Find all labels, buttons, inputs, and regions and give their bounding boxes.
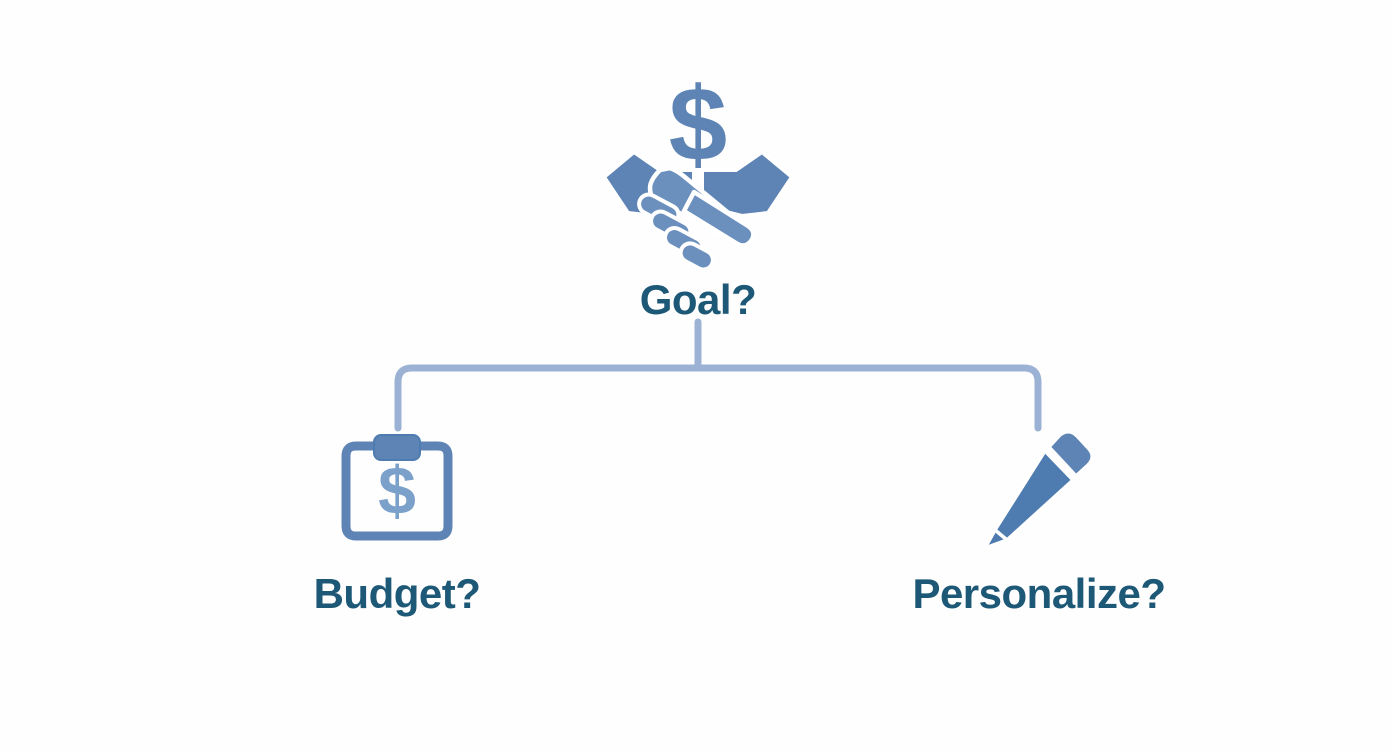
node-budget[interactable]: $ Budget? xyxy=(254,430,540,618)
svg-text:$: $ xyxy=(669,74,727,183)
clipboard-dollar-icon: $ xyxy=(332,430,462,550)
node-personalize[interactable]: Personalize? xyxy=(896,430,1182,618)
pencil-icon xyxy=(974,430,1104,550)
dollar-sign-glyph: $ xyxy=(669,74,727,183)
node-goal-label: Goal? xyxy=(640,276,757,324)
node-budget-label: Budget? xyxy=(314,570,481,618)
connector-branch-left xyxy=(398,368,698,428)
handshake-dollar-icon: $ xyxy=(598,74,798,274)
diagram-canvas: $ Goal? xyxy=(0,0,1392,752)
node-goal[interactable]: $ Goal? xyxy=(556,74,840,324)
node-personalize-label: Personalize? xyxy=(912,570,1165,618)
pencil-body xyxy=(995,451,1073,540)
connector-branch-right xyxy=(698,368,1038,428)
clipboard-dollar-glyph: $ xyxy=(378,453,416,529)
